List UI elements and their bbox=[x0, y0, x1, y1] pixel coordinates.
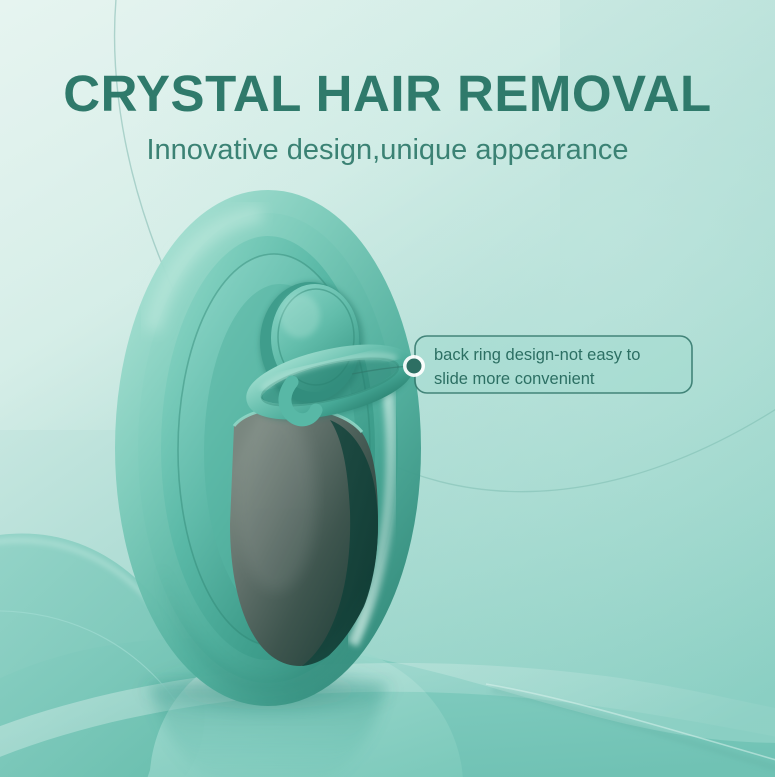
callout-leader-line bbox=[352, 366, 410, 374]
callout-graphics[interactable] bbox=[0, 0, 775, 777]
product-marketing-image: CRYSTAL HAIR REMOVAL Innovative design,u… bbox=[0, 0, 775, 777]
callout-connector-dot[interactable] bbox=[407, 359, 422, 374]
callout-box[interactable] bbox=[415, 336, 692, 393]
